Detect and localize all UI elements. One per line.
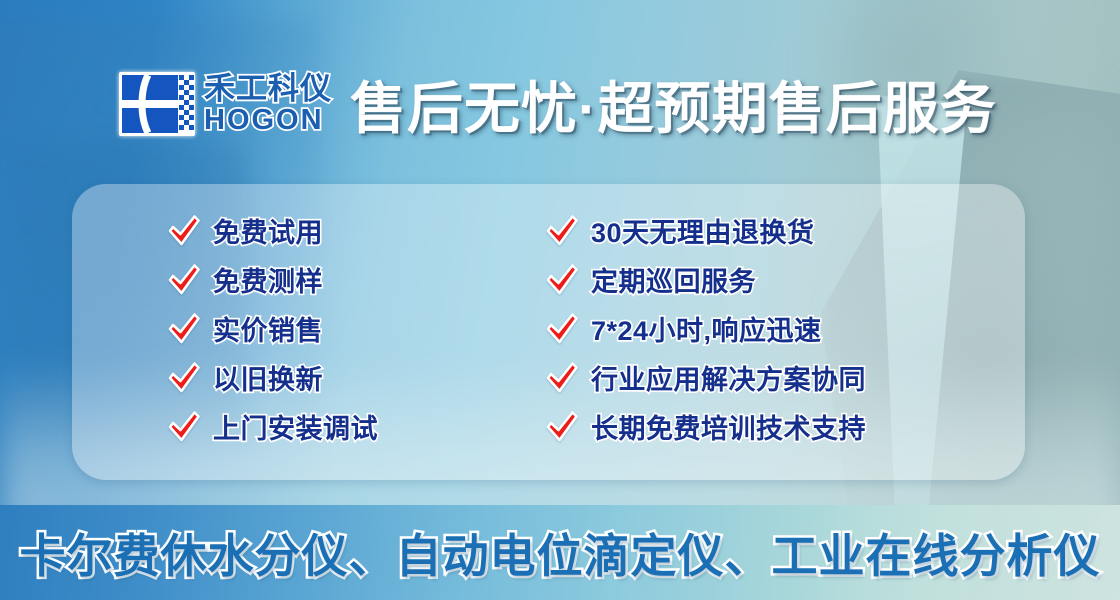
list-item: 30天无理由退换货 [545,206,1025,255]
list-item: 免费测样 [167,255,452,304]
list-item: 定期巡回服务 [545,255,1025,304]
list-item-label: 7*24小时,响应迅速 [591,309,822,348]
list-item-label: 行业应用解决方案协同 [591,358,866,397]
red-check-icon [545,361,579,395]
list-item-label: 免费测样 [213,260,323,299]
red-check-icon [167,312,201,346]
list-item-label: 上门安装调试 [213,407,378,446]
list-item: 行业应用解决方案协同 [545,353,1025,402]
list-item: 免费试用 [167,206,452,255]
list-item-label: 长期免费培训技术支持 [591,407,866,446]
features-columns: 免费试用 免费测样 实价销售 [72,184,1025,480]
page-title: 售后无忧·超预期售后服务 [350,64,997,145]
features-left-column: 免费试用 免费测样 实价销售 [72,206,452,480]
red-check-icon [167,263,201,297]
list-item: 实价销售 [167,304,452,353]
brand-logo: 禾工科仪 HOGON [118,71,332,137]
features-panel: 免费试用 免费测样 实价销售 [72,184,1025,480]
list-item-label: 实价销售 [213,309,323,348]
red-check-icon [167,410,201,444]
red-check-icon [545,263,579,297]
banner-header: 禾工科仪 HOGON 售后无忧·超预期售后服务 [0,58,1120,150]
brand-name-en: HOGON [204,106,332,135]
red-check-icon [167,361,201,395]
list-item: 7*24小时,响应迅速 [545,304,1025,353]
list-item-label: 以旧换新 [213,358,323,397]
red-check-icon [545,410,579,444]
list-item-label: 免费试用 [213,211,323,250]
list-item: 上门安装调试 [167,402,452,451]
list-item-label: 30天无理由退换货 [591,211,815,250]
list-item: 长期免费培训技术支持 [545,402,1025,451]
list-item: 以旧换新 [167,353,452,402]
nordic-flag-logo-icon [118,71,196,137]
brand-name-cn: 禾工科仪 [204,73,332,104]
product-strip: 卡尔费休水分仪、自动电位滴定仪、工业在线分析仪 [0,505,1120,600]
brand-logo-text: 禾工科仪 HOGON [204,73,332,135]
promo-banner: 禾工科仪 HOGON 售后无忧·超预期售后服务 免费试用 [0,0,1120,600]
red-check-icon [545,312,579,346]
features-right-column: 30天无理由退换货 定期巡回服务 [452,206,1025,480]
list-item-label: 定期巡回服务 [591,260,756,299]
red-check-icon [167,214,201,248]
red-check-icon [545,214,579,248]
product-list-text: 卡尔费休水分仪、自动电位滴定仪、工业在线分析仪 [20,520,1101,586]
